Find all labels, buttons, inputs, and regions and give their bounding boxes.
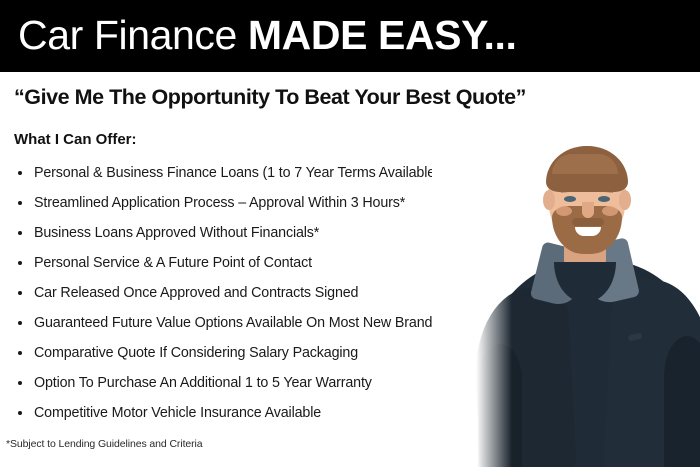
list-item-label: Business Loans Approved Without Financia… xyxy=(34,225,319,241)
footnote-disclaimer: *Subject to Lending Guidelines and Crite… xyxy=(6,437,203,451)
bullet-icon xyxy=(18,231,22,235)
list-item-label: Competitive Motor Vehicle Insurance Avai… xyxy=(34,405,321,421)
page-title-light: Car Finance xyxy=(18,12,248,58)
list-item-label: Personal Service & A Future Point of Con… xyxy=(34,255,312,271)
bullet-icon xyxy=(18,201,22,205)
bullet-icon xyxy=(18,381,22,385)
hair-fringe xyxy=(552,154,618,174)
cheek-left xyxy=(556,206,572,216)
nose xyxy=(582,202,594,218)
bullet-icon xyxy=(18,261,22,265)
photo-edge-fade xyxy=(432,138,512,467)
cheek-right xyxy=(602,206,618,216)
bullet-icon xyxy=(18,291,22,295)
bullet-icon xyxy=(18,351,22,355)
car-finance-poster: Car Finance MADE EASY... “Give Me The Op… xyxy=(0,0,700,467)
ear-right xyxy=(619,190,631,210)
portrait-photo xyxy=(432,138,700,467)
bullet-icon xyxy=(18,171,22,175)
header-banner: Car Finance MADE EASY... xyxy=(0,0,700,72)
ear-left xyxy=(543,190,555,210)
bullet-icon xyxy=(18,411,22,415)
page-title-bold: MADE EASY... xyxy=(248,12,517,58)
tagline-quote: “Give Me The Opportunity To Beat Your Be… xyxy=(14,84,688,110)
bullet-icon xyxy=(18,321,22,325)
sweater-arm-right xyxy=(664,336,700,467)
list-item-label: Personal & Business Finance Loans (1 to … xyxy=(34,165,440,181)
list-item-label: Comparative Quote If Considering Salary … xyxy=(34,345,358,361)
list-item-label: Car Released Once Approved and Contracts… xyxy=(34,285,358,301)
mustache xyxy=(572,218,604,226)
eye-right xyxy=(598,196,610,202)
eye-left xyxy=(564,196,576,202)
list-item-label: Streamlined Application Process – Approv… xyxy=(34,195,405,211)
list-item-label: Option To Purchase An Additional 1 to 5 … xyxy=(34,375,372,391)
page-title: Car Finance MADE EASY... xyxy=(18,9,517,61)
offer-heading: What I Can Offer: xyxy=(14,130,137,150)
list-item-label: Guaranteed Future Value Options Availabl… xyxy=(34,315,439,331)
